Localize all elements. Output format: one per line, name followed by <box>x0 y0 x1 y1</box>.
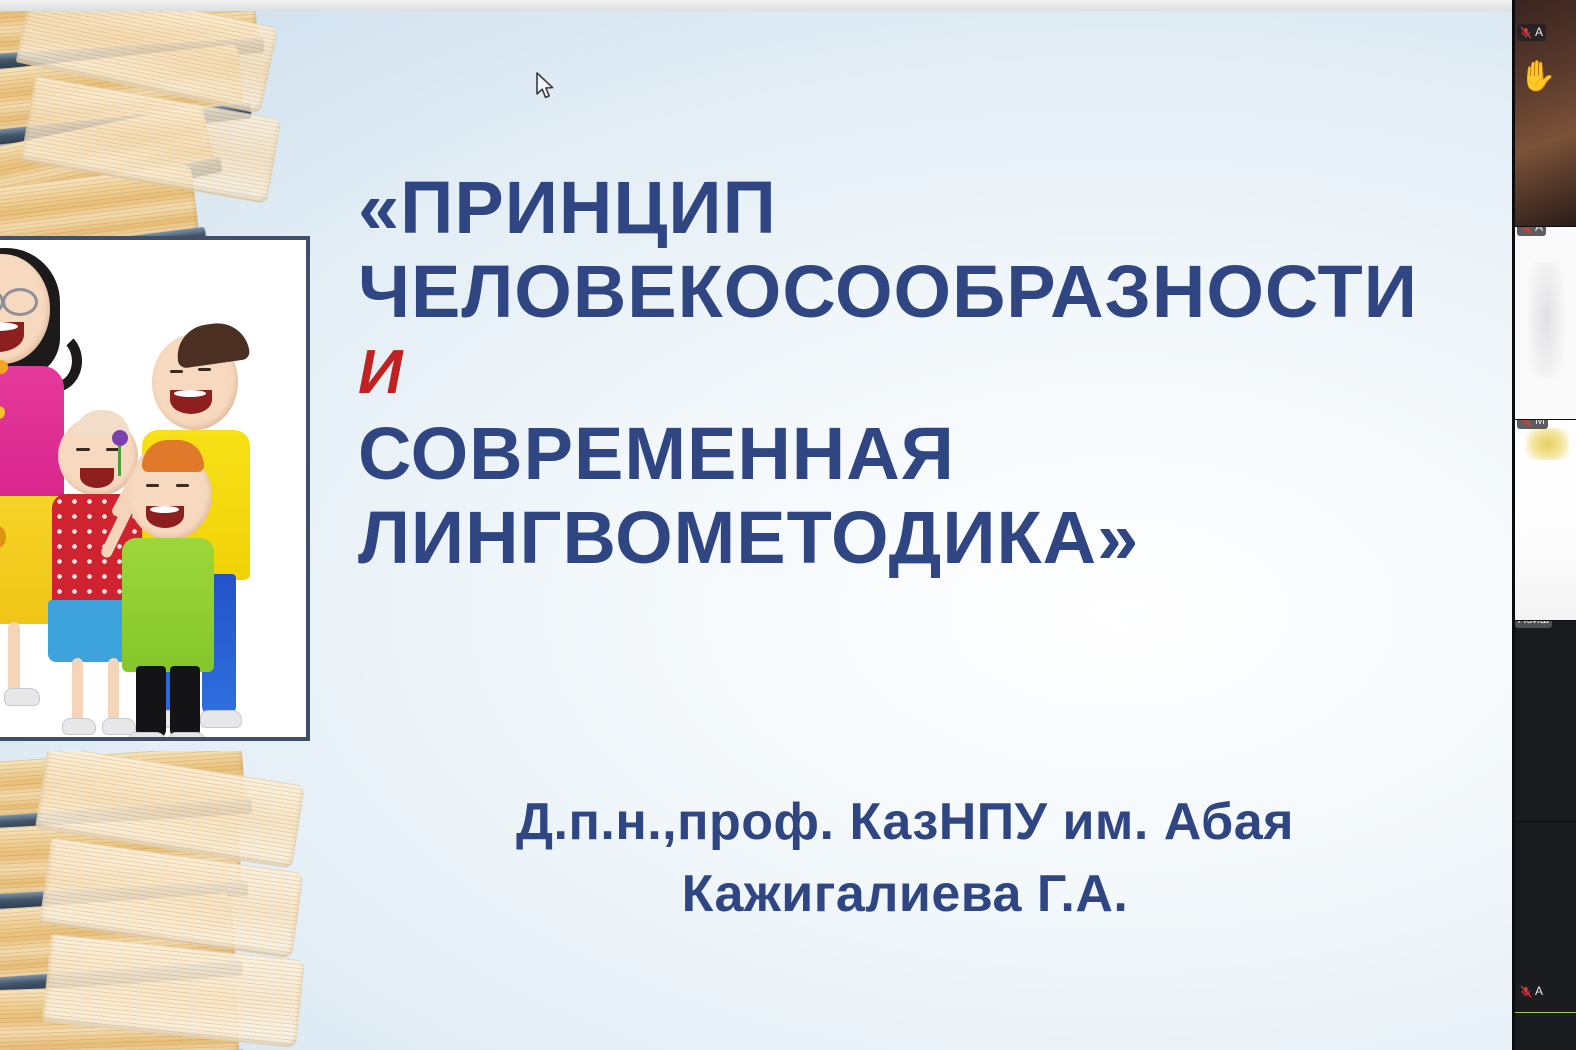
video-tile-active-speaker[interactable] <box>1515 1012 1576 1050</box>
participant-label: Абиш <box>1515 620 1552 628</box>
slide-title: «ПРИНЦИП ЧЕЛОВЕКОСООБРАЗНОСТИ И СОВРЕМЕН… <box>358 166 1512 580</box>
shared-screen-topbar <box>0 0 1512 11</box>
books-illustration-top <box>0 11 316 269</box>
video-tile[interactable]: ✋ A <box>1515 0 1576 226</box>
figure-boy-green <box>122 448 242 741</box>
shared-screen-region[interactable]: «ПРИНЦИП ЧЕЛОВЕКОСООБРАЗНОСТИ И СОВРЕМЕН… <box>0 0 1512 1050</box>
participant-name: A <box>1535 226 1543 235</box>
slide-author: Д.п.н.,проф. КазНПУ им. Абая Кажигалиева… <box>330 786 1480 930</box>
microphone-muted-icon <box>1520 26 1532 39</box>
author-line-1: Д.п.н.,проф. КазНПУ им. Абая <box>330 786 1480 858</box>
participant-label: M <box>1517 419 1548 429</box>
title-line-1: «ПРИНЦИП <box>358 166 1512 250</box>
participant-name: M <box>1535 419 1545 428</box>
title-line-3-conjunction: И <box>358 334 1512 412</box>
video-tile[interactable]: M <box>1515 419 1576 620</box>
participant-label: A <box>1517 226 1546 236</box>
microphone-muted-icon <box>1520 419 1532 427</box>
video-tile[interactable]: Абиш <box>1515 620 1576 821</box>
participant-name: Абиш <box>1518 620 1549 627</box>
cartoon-family-illustration <box>0 240 306 737</box>
video-tile[interactable]: A <box>1515 226 1576 419</box>
microphone-muted-icon <box>1520 226 1532 234</box>
participant-name: A <box>1535 25 1543 40</box>
author-line-2: Кажигалиева Г.А. <box>330 858 1480 930</box>
screen: «ПРИНЦИП ЧЕЛОВЕКОСООБРАЗНОСТИ И СОВРЕМЕН… <box>0 0 1576 1050</box>
raised-hand-icon: ✋ <box>1519 62 1556 92</box>
family-photo-frame <box>0 236 310 741</box>
books-illustration-bottom <box>0 751 344 1050</box>
title-line-2: ЧЕЛОВЕКОСООБРАЗНОСТИ <box>358 250 1512 334</box>
presentation-slide[interactable]: «ПРИНЦИП ЧЕЛОВЕКОСООБРАЗНОСТИ И СОВРЕМЕН… <box>0 11 1512 1050</box>
microphone-muted-icon <box>1520 985 1532 998</box>
participant-video <box>1515 621 1576 821</box>
title-line-5: ЛИНГВОМЕТОДИКА» <box>358 496 1512 580</box>
participant-name: A <box>1535 984 1543 999</box>
title-line-4: СОВРЕМЕННАЯ <box>358 412 1512 496</box>
participant-video <box>1515 1013 1576 1050</box>
participant-label: A <box>1517 983 1546 1000</box>
participants-video-sidebar[interactable]: ✋ A A <box>1512 0 1576 1050</box>
participant-video <box>1515 420 1576 620</box>
participant-label: A <box>1517 24 1546 41</box>
participant-video <box>1515 227 1576 419</box>
video-tile[interactable]: A <box>1515 821 1576 1012</box>
